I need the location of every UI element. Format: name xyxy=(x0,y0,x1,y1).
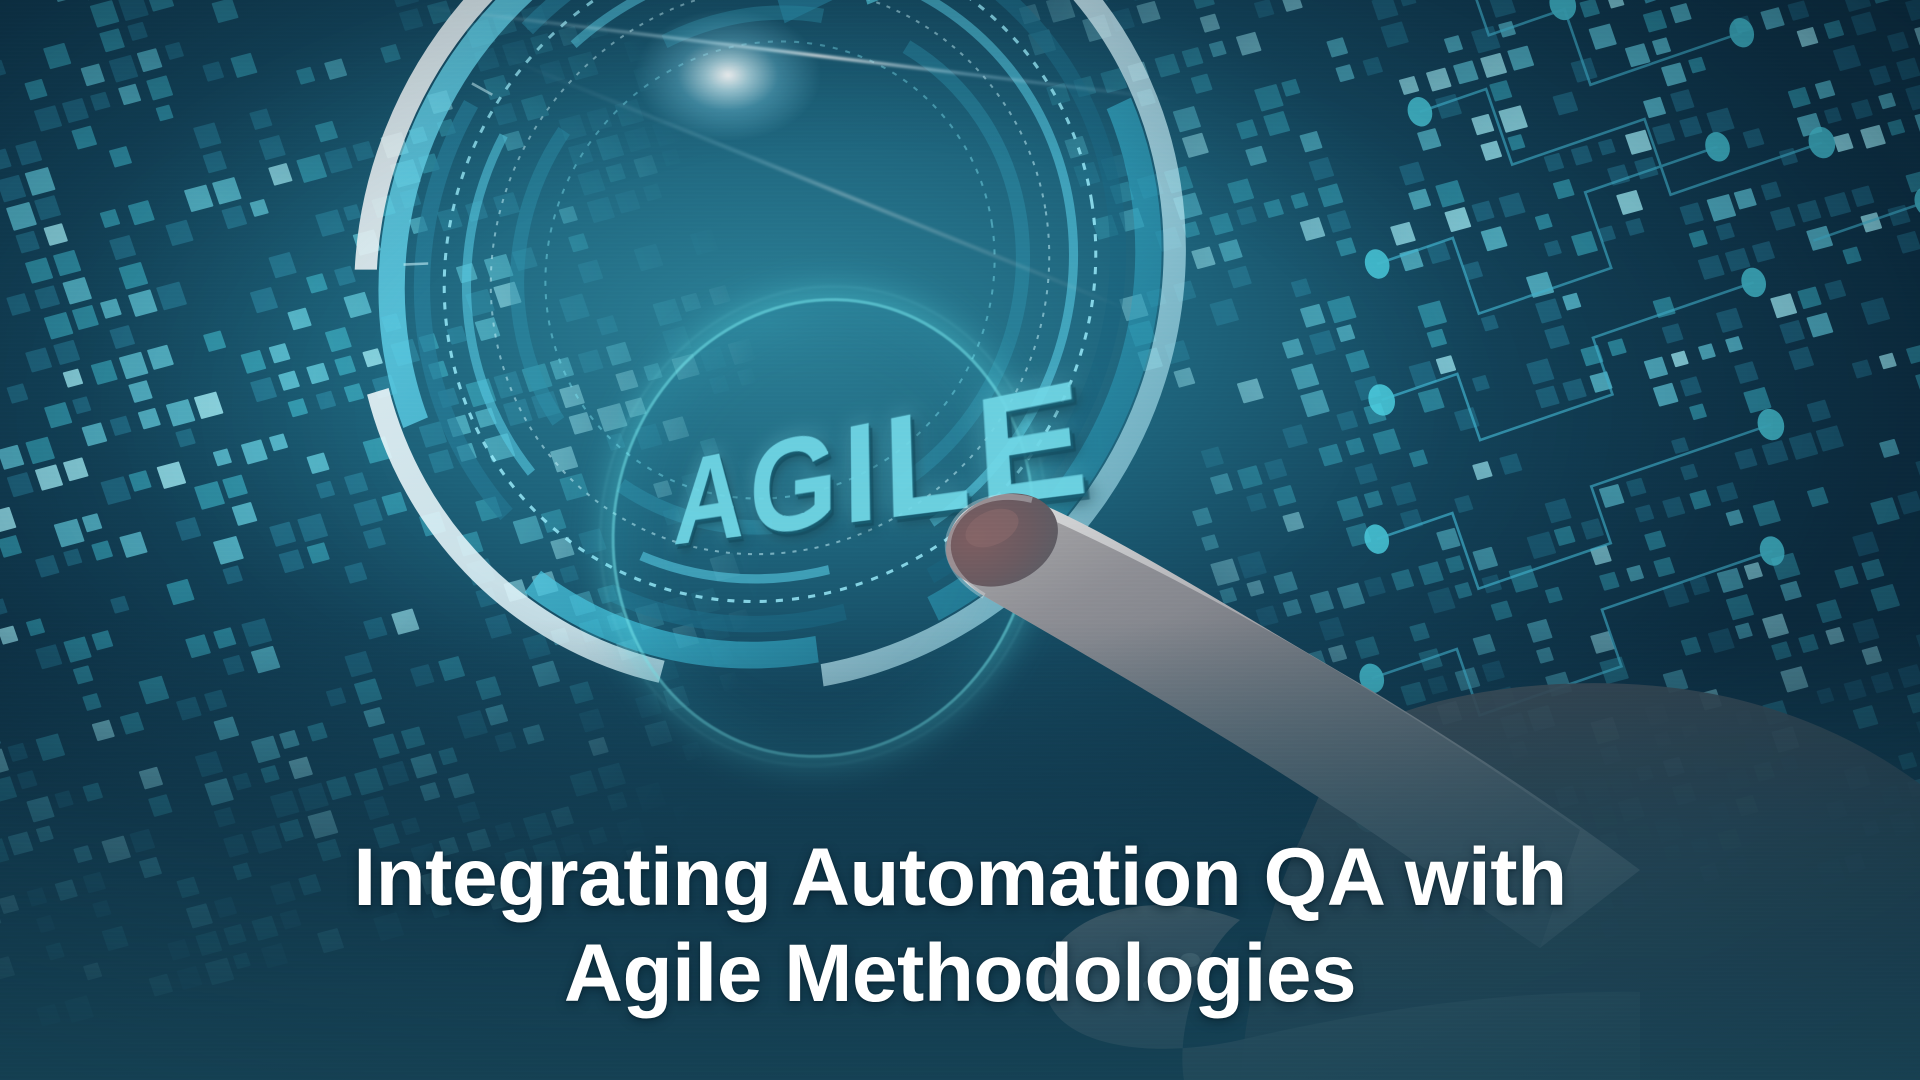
hero-banner: AGILE xyxy=(0,0,1920,1080)
title-line-1: Integrating Automation QA with xyxy=(60,830,1860,926)
title-line-2: Agile Methodologies xyxy=(60,926,1860,1022)
banner-title: Integrating Automation QA with Agile Met… xyxy=(0,830,1920,1022)
